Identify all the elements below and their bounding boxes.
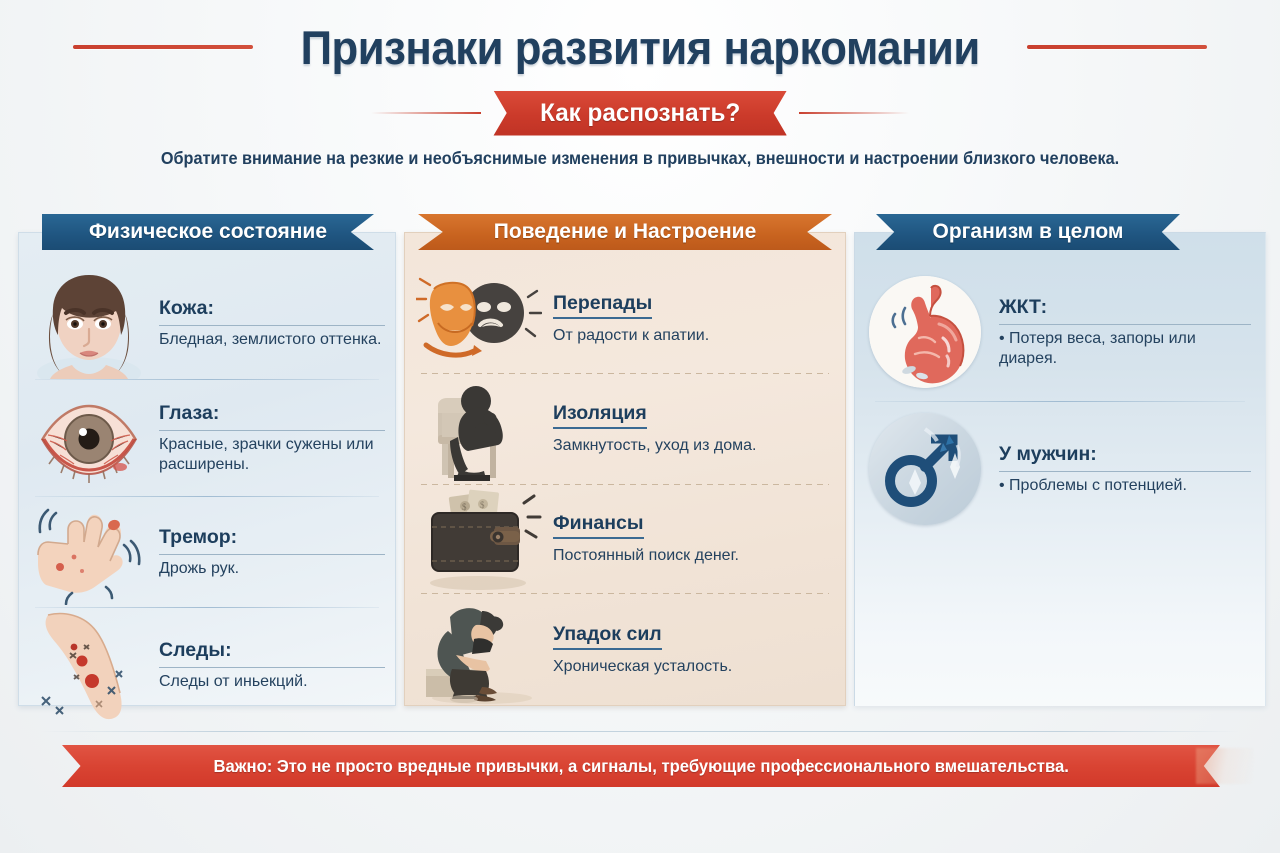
item-text: Глаза: Красные, зрачки сужены или расшир… <box>159 402 385 474</box>
trembling-hand-icon <box>29 497 149 607</box>
title-underline <box>159 667 385 668</box>
list-item: Тремор: Дрожь рук. <box>29 497 385 607</box>
list-item: Глаза: Красные, зрачки сужены или расшир… <box>29 380 385 496</box>
list-item: $ $ <box>415 485 835 593</box>
item-title: Финансы <box>553 512 644 539</box>
list-item: У мужчин: • Проблемы с потенцией. <box>869 406 1251 532</box>
item-text: Упадок сил Хроническая усталость. <box>553 623 835 677</box>
item-description: Красные, зрачки сужены или расширены. <box>159 435 385 474</box>
item-title: Глаза: <box>159 402 219 427</box>
column-heading-organism: Организм в целом <box>876 214 1180 250</box>
item-text: Перепады От радости к апатии. <box>553 292 835 346</box>
behaviour-items: Перепады От радости к апатии. <box>405 265 845 706</box>
item-title: Тремор: <box>159 526 237 551</box>
title-underline <box>999 471 1251 472</box>
item-description: Замкнутость, уход из дома. <box>553 436 835 456</box>
item-bullet: • Проблемы с потенцией. <box>999 476 1251 496</box>
header: Признаки развития наркомании Как распозн… <box>0 0 1280 190</box>
item-description: Хроническая усталость. <box>553 657 835 677</box>
item-text: Тремор: Дрожь рук. <box>159 526 385 579</box>
page-title: Признаки развития наркомании <box>300 20 979 75</box>
item-title: Кожа: <box>159 297 214 322</box>
male-symbol-icon <box>869 413 981 525</box>
card-physical: Кожа: Бледная, землистого оттенка. <box>18 232 396 706</box>
bullet-text: Проблемы с потенцией. <box>1009 477 1187 494</box>
list-item: Изоляция Замкнутость, уход из дома. <box>415 374 835 484</box>
bullet-dot: • <box>999 477 1009 494</box>
item-description: От радости к апатии. <box>553 326 835 346</box>
subtitle-rule-left <box>371 112 481 114</box>
bullet-text: Потеря веса, запоры или диарея. <box>999 330 1196 367</box>
sitting-isolated-person-icon <box>415 374 543 484</box>
item-description: Дрожь рук. <box>159 559 385 579</box>
footer-divider <box>40 731 1240 732</box>
list-item: ЖКТ: • Потеря веса, запоры или диарея. <box>869 267 1251 397</box>
card-behaviour: Перепады От радости к апатии. <box>404 232 846 706</box>
woman-face-icon <box>29 267 149 379</box>
item-title: Изоляция <box>553 402 647 429</box>
subtitle-rule-right <box>799 112 909 114</box>
list-item: Перепады От радости к апатии. <box>415 265 835 373</box>
column-organism: ЖКТ: • Потеря веса, запоры или диарея. <box>854 214 1266 706</box>
title-rule-right <box>1027 45 1207 49</box>
item-text: Финансы Постоянный поиск денег. <box>553 512 835 566</box>
title-row: Признаки развития наркомании <box>0 16 1280 78</box>
item-title: Упадок сил <box>553 623 662 650</box>
list-item: Упадок сил Хроническая усталость. <box>415 594 835 706</box>
theatre-masks-icon <box>415 265 543 373</box>
divider <box>875 401 1245 402</box>
column-physical: Кожа: Бледная, землистого оттенка. <box>18 214 396 706</box>
footer-banner: Важно: Это не просто вредные привычки, а… <box>62 745 1220 787</box>
column-heading-physical: Физическое состояние <box>42 214 374 250</box>
column-behaviour: Перепады От радости к апатии. <box>404 214 846 706</box>
item-text: У мужчин: • Проблемы с потенцией. <box>991 443 1251 496</box>
exhausted-man-icon <box>415 594 543 706</box>
list-item: Следы: Следы от иньекций. <box>29 608 385 722</box>
svg-text:$: $ <box>462 502 467 512</box>
list-item: Кожа: Бледная, землистого оттенка. <box>29 267 385 379</box>
svg-text:$: $ <box>480 500 485 510</box>
injection-marks-arm-icon <box>29 608 149 722</box>
item-text: Следы: Следы от иньекций. <box>159 639 385 692</box>
item-description: Следы от иньекций. <box>159 672 385 692</box>
title-underline <box>159 325 385 326</box>
item-text: Кожа: Бледная, землистого оттенка. <box>159 297 385 350</box>
organism-items: ЖКТ: • Потеря веса, запоры или диарея. <box>855 267 1265 532</box>
stomach-icon <box>869 276 981 388</box>
footer-text: Важно: Это не просто вредные привычки, а… <box>213 756 1068 777</box>
subtitle-ribbon-row: Как распознать? <box>0 88 1280 138</box>
column-heading-behaviour: Поведение и Настроение <box>418 214 832 250</box>
lead-paragraph: Обратите внимание на резкие и необъясним… <box>45 148 1235 169</box>
item-text: Изоляция Замкнутость, уход из дома. <box>553 402 835 456</box>
title-underline <box>999 324 1251 325</box>
item-title: Перепады <box>553 292 652 319</box>
item-title: У мужчин: <box>999 443 1097 468</box>
subtitle-ribbon: Как распознать? <box>493 91 786 136</box>
physical-items: Кожа: Бледная, землистого оттенка. <box>19 267 395 722</box>
item-text: ЖКТ: • Потеря веса, запоры или диарея. <box>991 296 1251 369</box>
item-title: ЖКТ: <box>999 296 1047 321</box>
title-rule-left <box>73 45 253 49</box>
item-bullet: • Потеря веса, запоры или диарея. <box>999 329 1251 369</box>
footer-banner-tail <box>1196 748 1254 784</box>
card-organism: ЖКТ: • Потеря веса, запоры или диарея. <box>854 232 1266 706</box>
item-description: Бледная, землистого оттенка. <box>159 330 385 350</box>
bullet-dot: • <box>999 330 1009 347</box>
title-underline <box>159 430 385 431</box>
wallet-money-icon: $ $ <box>415 485 543 593</box>
red-eye-icon <box>29 380 149 496</box>
item-title: Следы: <box>159 639 232 664</box>
title-underline <box>159 554 385 555</box>
item-description: Постоянный поиск денег. <box>553 546 835 566</box>
